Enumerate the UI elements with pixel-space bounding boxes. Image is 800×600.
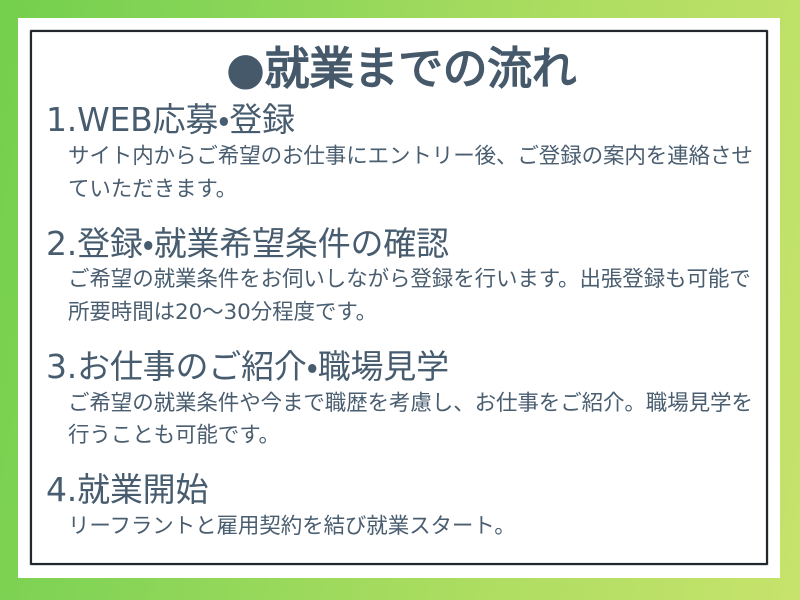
step-item-3: 3.お仕事のご紹介・職場見学 ご希望の就業条件や今まで職歴を考慮し、お仕事をご紹…: [46, 348, 756, 453]
step-4-heading: 4.就業開始: [46, 471, 756, 510]
step-1-heading: 1.WEB応募・登録: [46, 101, 756, 140]
step-4-body: リーフラントと雇用契約を結び就業スタート。: [68, 511, 756, 544]
poster-content: ●就業までの流れ 1.WEB応募・登録 サイト内からご希望のお仕事にエントリー後…: [32, 32, 766, 544]
step-1-body: サイト内からご希望のお仕事にエントリー後、ご登録の案内を連絡させていただきます。: [68, 141, 756, 206]
poster-root: ●就業までの流れ 1.WEB応募・登録 サイト内からご希望のお仕事にエントリー後…: [0, 0, 800, 600]
step-item-2: 2.登録・就業希望条件の確認 ご希望の就業条件をお伺いしながら登録を行います。出…: [46, 225, 756, 330]
step-item-1: 1.WEB応募・登録 サイト内からご希望のお仕事にエントリー後、ご登録の案内を連…: [46, 101, 756, 206]
white-sheet: ●就業までの流れ 1.WEB応募・登録 サイト内からご希望のお仕事にエントリー後…: [18, 18, 780, 578]
step-2-heading: 2.登録・就業希望条件の確認: [46, 225, 756, 264]
step-3-heading: 3.お仕事のご紹介・職場見学: [46, 348, 756, 387]
step-3-body: ご希望の就業条件や今まで職歴を考慮し、お仕事をご紹介。職場見学を行うことも可能で…: [68, 388, 756, 453]
hand-drawn-frame: ●就業までの流れ 1.WEB応募・登録 サイト内からご希望のお仕事にエントリー後…: [30, 30, 768, 565]
page-title: ●就業までの流れ: [46, 45, 756, 92]
step-2-body: ご希望の就業条件をお伺いしながら登録を行います。出張登録も可能で所要時間は20〜…: [68, 264, 756, 329]
step-item-4: 4.就業開始 リーフラントと雇用契約を結び就業スタート。: [46, 471, 756, 544]
